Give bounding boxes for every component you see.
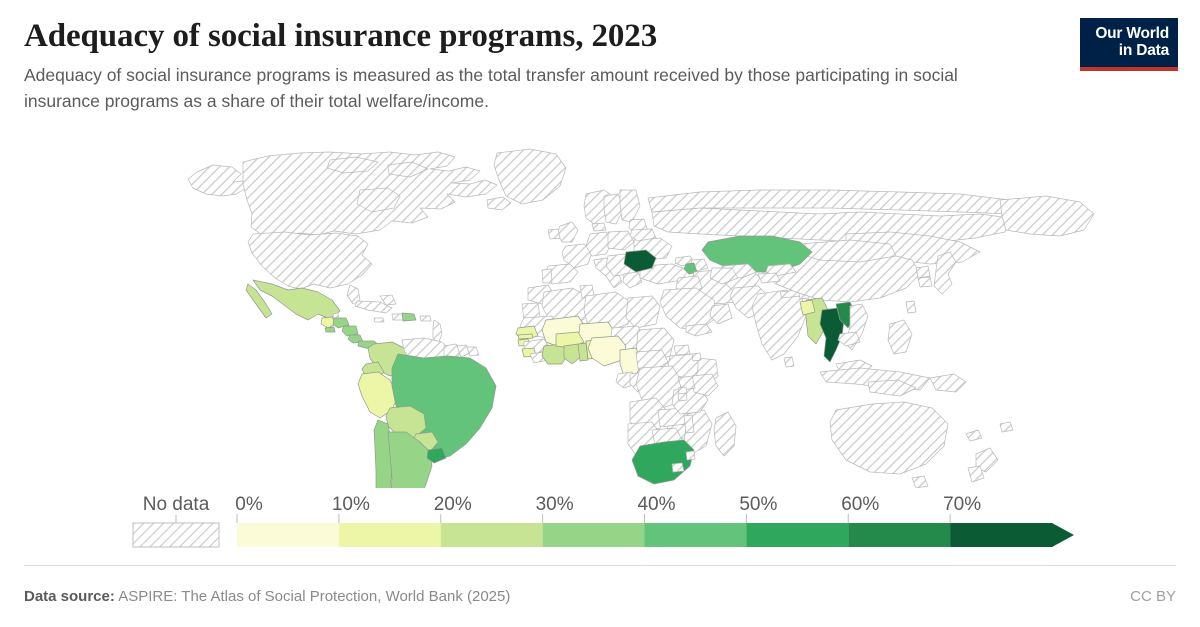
license-label[interactable]: CC BY <box>1130 588 1176 605</box>
legend-tick-label-0: 0% <box>235 494 263 515</box>
map-country-slv[interactable] <box>325 327 335 332</box>
legend-tick-label-2: 20% <box>434 494 472 515</box>
map-country-nodata[interactable] <box>784 357 794 367</box>
legend-bin-30[interactable] <box>543 523 645 547</box>
map-country-nodata[interactable] <box>248 232 372 289</box>
chart-footer: Data source: ASPIRE: The Atlas of Social… <box>24 565 1176 616</box>
map-country-nodata[interactable] <box>912 476 928 488</box>
legend-tick-label-7: 70% <box>943 494 981 515</box>
map-country-nodata[interactable] <box>674 345 690 355</box>
owid-logo-box: Our World in Data <box>1080 18 1178 67</box>
map-country-nodata[interactable] <box>830 402 948 474</box>
map-country-nodata[interactable] <box>686 451 695 460</box>
map-country-nodata[interactable] <box>1000 196 1094 236</box>
map-country-gmb[interactable] <box>518 334 533 339</box>
map-country-zaf[interactable] <box>632 440 694 484</box>
map-country-nodata[interactable] <box>392 314 403 320</box>
map-country-nodata[interactable] <box>608 231 634 250</box>
map-country-nodata[interactable] <box>710 304 732 324</box>
owid-logo[interactable]: Our World in Data <box>1080 18 1178 71</box>
owid-logo-line2: in Data <box>1089 42 1169 59</box>
map-country-nodata[interactable] <box>557 222 578 242</box>
map-country-nodata[interactable] <box>487 197 511 210</box>
page-subtitle: Adequacy of social insurance programs is… <box>24 62 999 114</box>
map-country-nodata[interactable] <box>620 190 640 222</box>
legend-bin-20[interactable] <box>441 523 543 547</box>
legend-bin-10[interactable] <box>339 523 441 547</box>
map-country-nodata[interactable] <box>678 393 687 401</box>
map-country-nodata[interactable] <box>652 208 1010 244</box>
data-source-text: ASPIRE: The Atlas of Social Protection, … <box>118 588 510 605</box>
map-country-nodata[interactable] <box>494 149 566 204</box>
map-country-nodata[interactable] <box>692 353 701 361</box>
world-map-svg[interactable] <box>0 138 1200 488</box>
chart-page: Adequacy of social insurance programs, 2… <box>0 0 1200 627</box>
legend-tick-label-6: 60% <box>841 494 879 515</box>
map-country-nodata[interactable] <box>188 165 248 196</box>
map-country-nodata[interactable] <box>916 266 930 278</box>
legend-tick-label-1: 10% <box>332 494 370 515</box>
owid-logo-rule <box>1080 67 1178 71</box>
legend-no-data-label: No data <box>143 494 210 515</box>
owid-logo-line1: Our World <box>1089 25 1169 42</box>
world-map[interactable] <box>0 138 1200 488</box>
map-country-dom[interactable] <box>402 313 416 321</box>
chart-header: Adequacy of social insurance programs, 2… <box>24 16 1176 114</box>
map-country-nodata[interactable] <box>420 316 431 321</box>
legend-bin-60[interactable] <box>848 523 950 547</box>
map-country-nodata[interactable] <box>714 412 736 456</box>
legend-tick-label-3: 30% <box>536 494 574 515</box>
map-legend[interactable]: No data0%10%20%30%40%50%60%70% <box>0 488 1200 550</box>
map-country-nodata[interactable] <box>548 229 560 239</box>
map-country-nodata[interactable] <box>1000 422 1013 432</box>
legend-bin-50[interactable] <box>746 523 848 547</box>
map-country-bgd[interactable] <box>800 300 815 315</box>
map-country-nodata[interactable] <box>758 273 780 283</box>
map-country-nodata[interactable] <box>626 296 660 328</box>
map-country-nodata[interactable] <box>888 320 912 354</box>
legend-no-data-swatch[interactable] <box>133 523 219 547</box>
legend-bin-70[interactable] <box>950 523 1074 547</box>
map-country-nodata[interactable] <box>623 272 642 288</box>
data-source: Data source: ASPIRE: The Atlas of Social… <box>24 588 510 605</box>
legend-bin-0[interactable] <box>237 523 339 547</box>
map-country-nic[interactable] <box>342 326 358 336</box>
map-country-nodata[interactable] <box>374 318 384 322</box>
legend-tick-label-5: 50% <box>739 494 777 515</box>
data-source-label: Data source: <box>24 588 115 605</box>
map-country-nodata[interactable] <box>542 269 552 283</box>
map-country-nodata[interactable] <box>467 347 479 356</box>
map-country-nodata[interactable] <box>966 430 982 441</box>
map-country-nodata[interactable] <box>838 332 860 346</box>
map-country-nodata[interactable] <box>684 415 694 433</box>
map-country-nodata[interactable] <box>686 324 712 336</box>
map-country-nodata[interactable] <box>918 277 932 287</box>
legend-tick-label-4: 40% <box>637 494 675 515</box>
map-country-nodata[interactable] <box>930 374 966 392</box>
map-country-chl[interactable] <box>374 420 392 488</box>
map-country-nodata[interactable] <box>592 223 606 231</box>
map-country-nodata[interactable] <box>672 463 684 472</box>
map-country-nodata[interactable] <box>906 301 916 313</box>
map-country-nodata[interactable] <box>752 290 806 360</box>
legend-svg[interactable]: No data0%10%20%30%40%50%60%70% <box>0 488 1200 550</box>
legend-bin-40[interactable] <box>645 523 747 547</box>
page-title: Adequacy of social insurance programs, 2… <box>24 16 1176 56</box>
